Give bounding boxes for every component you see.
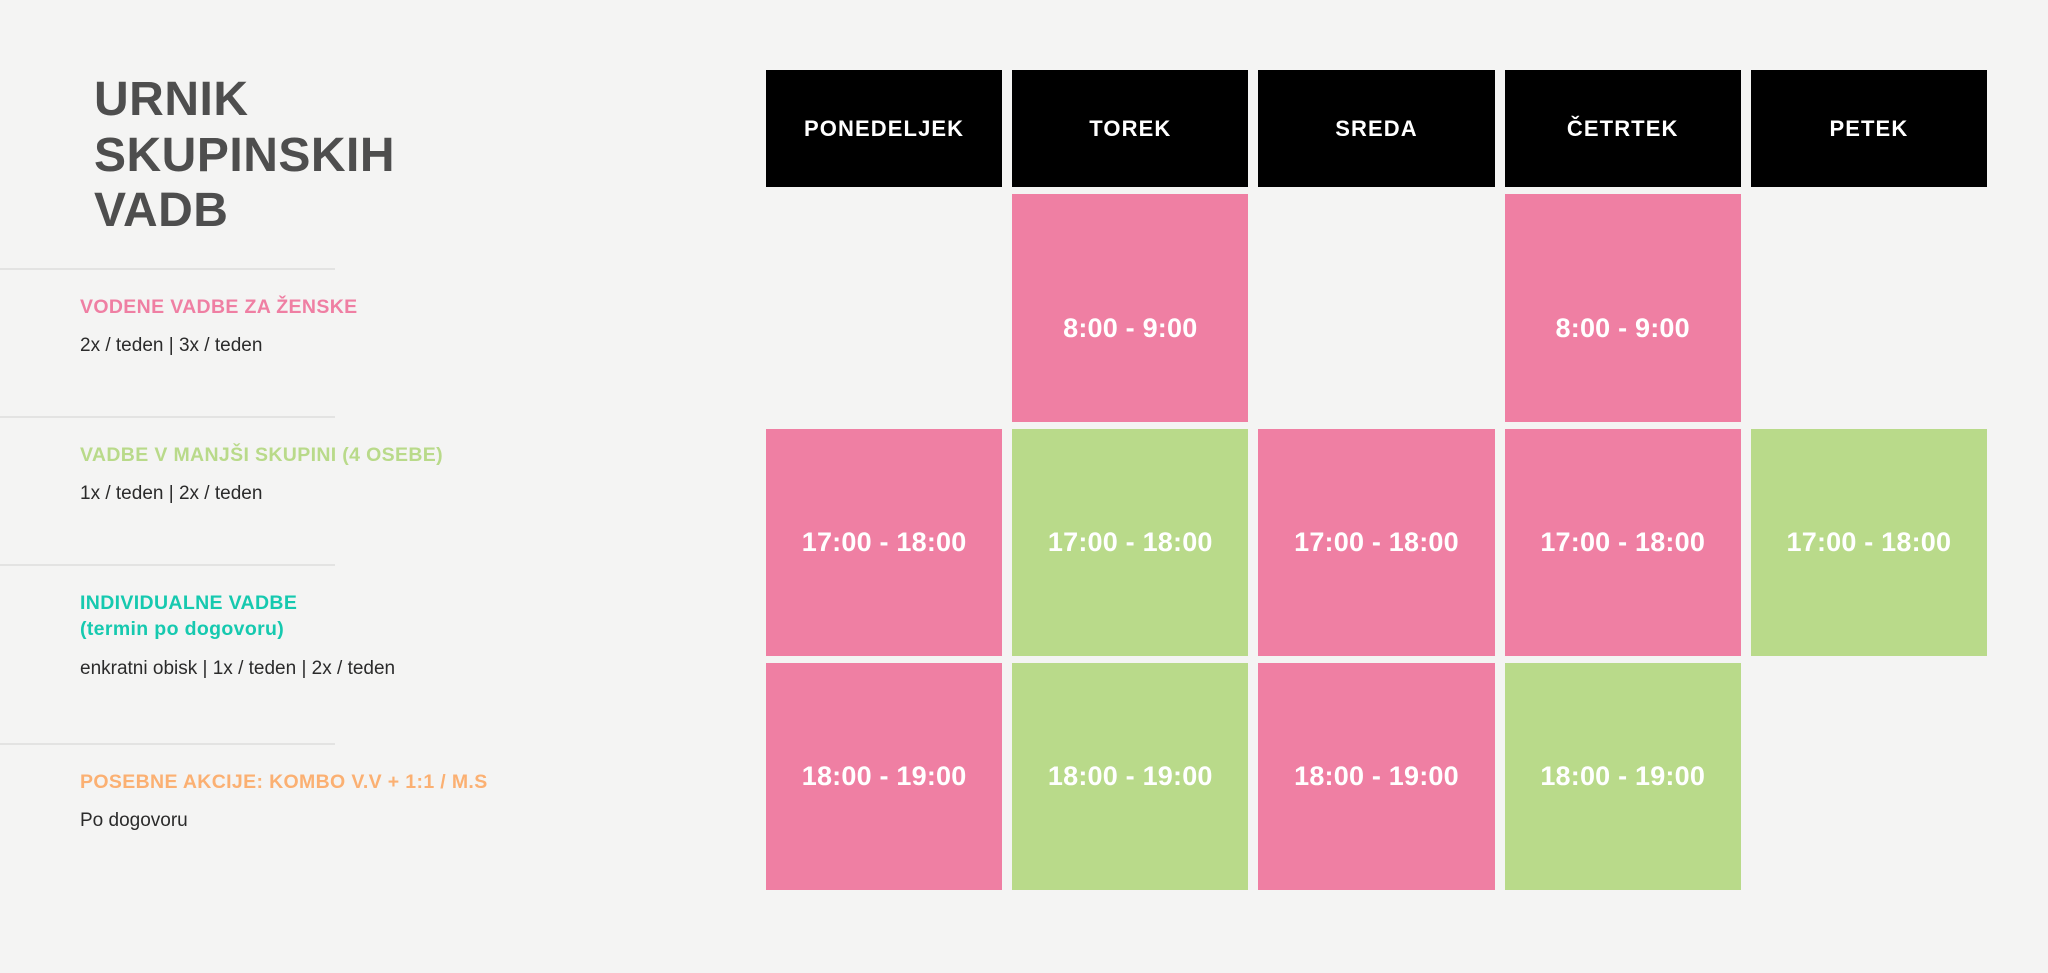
slot-petek-1700[interactable]: 17:00 - 18:00 bbox=[1751, 429, 1987, 656]
day-header-sreda: SREDA bbox=[1258, 70, 1494, 187]
legend-item-description: Po dogovoru bbox=[80, 808, 780, 835]
slot-sreda-1700[interactable]: 17:00 - 18:00 bbox=[1258, 429, 1494, 656]
weekly-schedule: PONEDELJEK TOREK SREDA ČETRTEK PETEK 8:0… bbox=[766, 70, 1987, 890]
legend-item-description: enkratni obisk | 1x / teden | 2x / teden bbox=[80, 656, 780, 683]
day-header-petek: PETEK bbox=[1751, 70, 1987, 187]
legend-item-vadbe-v-manjsi-skupini: VADBE V MANJŠI SKUPINI (4 OSEBE) 1x / te… bbox=[0, 416, 780, 508]
schedule-grid: PONEDELJEK TOREK SREDA ČETRTEK PETEK 8:0… bbox=[766, 70, 1987, 890]
legend-item-title: POSEBNE AKCIJE: KOMBO V.V + 1:1 / M.S bbox=[80, 769, 780, 795]
day-header-torek: TOREK bbox=[1012, 70, 1248, 187]
legend-item-title: VADBE V MANJŠI SKUPINI (4 OSEBE) bbox=[80, 442, 780, 468]
legend-divider bbox=[0, 416, 335, 418]
slot-cetrtek-morning[interactable]: 8:00 - 9:00 bbox=[1505, 194, 1741, 422]
slot-petek-1800 bbox=[1751, 663, 1987, 890]
legend-item-title: VODENE VADBE ZA ŽENSKE bbox=[80, 294, 780, 320]
slot-sreda-morning bbox=[1258, 194, 1494, 422]
slot-sreda-1800[interactable]: 18:00 - 19:00 bbox=[1258, 663, 1494, 890]
legend-item-individualne-vadbe: INDIVIDUALNE VADBE (termin po dogovoru) … bbox=[0, 564, 780, 682]
legend-item-subtitle: (termin po dogovoru) bbox=[80, 616, 780, 642]
slot-torek-1700[interactable]: 17:00 - 18:00 bbox=[1012, 429, 1248, 656]
legend-divider bbox=[0, 564, 335, 566]
day-header-ponedeljek: PONEDELJEK bbox=[766, 70, 1002, 187]
legend-item-posebne-akcije: POSEBNE AKCIJE: KOMBO V.V + 1:1 / M.S Po… bbox=[0, 743, 780, 835]
legend-item-title: INDIVIDUALNE VADBE bbox=[80, 590, 780, 616]
slot-ponedeljek-1800[interactable]: 18:00 - 19:00 bbox=[766, 663, 1002, 890]
slot-torek-1800[interactable]: 18:00 - 19:00 bbox=[1012, 663, 1248, 890]
day-header-cetrtek: ČETRTEK bbox=[1505, 70, 1741, 187]
slot-ponedeljek-morning bbox=[766, 194, 1002, 422]
slot-cetrtek-1800[interactable]: 18:00 - 19:00 bbox=[1505, 663, 1741, 890]
legend-divider bbox=[0, 743, 335, 745]
slot-petek-morning bbox=[1751, 194, 1987, 422]
legend-item-description: 1x / teden | 2x / teden bbox=[80, 481, 780, 508]
slot-ponedeljek-1700[interactable]: 17:00 - 18:00 bbox=[766, 429, 1002, 656]
slot-cetrtek-1700[interactable]: 17:00 - 18:00 bbox=[1505, 429, 1741, 656]
slot-torek-morning[interactable]: 8:00 - 9:00 bbox=[1012, 194, 1248, 422]
info-panel: URNIK SKUPINSKIH VADB VODENE VADBE ZA ŽE… bbox=[0, 0, 700, 973]
legend-item-vodene-vadbe-za-zenske: VODENE VADBE ZA ŽENSKE 2x / teden | 3x /… bbox=[0, 268, 780, 360]
schedule-poster: URNIK SKUPINSKIH VADB VODENE VADBE ZA ŽE… bbox=[0, 0, 2048, 973]
page-title: URNIK SKUPINSKIH VADB bbox=[94, 72, 514, 239]
legend-divider bbox=[0, 268, 335, 270]
legend-item-description: 2x / teden | 3x / teden bbox=[80, 333, 780, 360]
